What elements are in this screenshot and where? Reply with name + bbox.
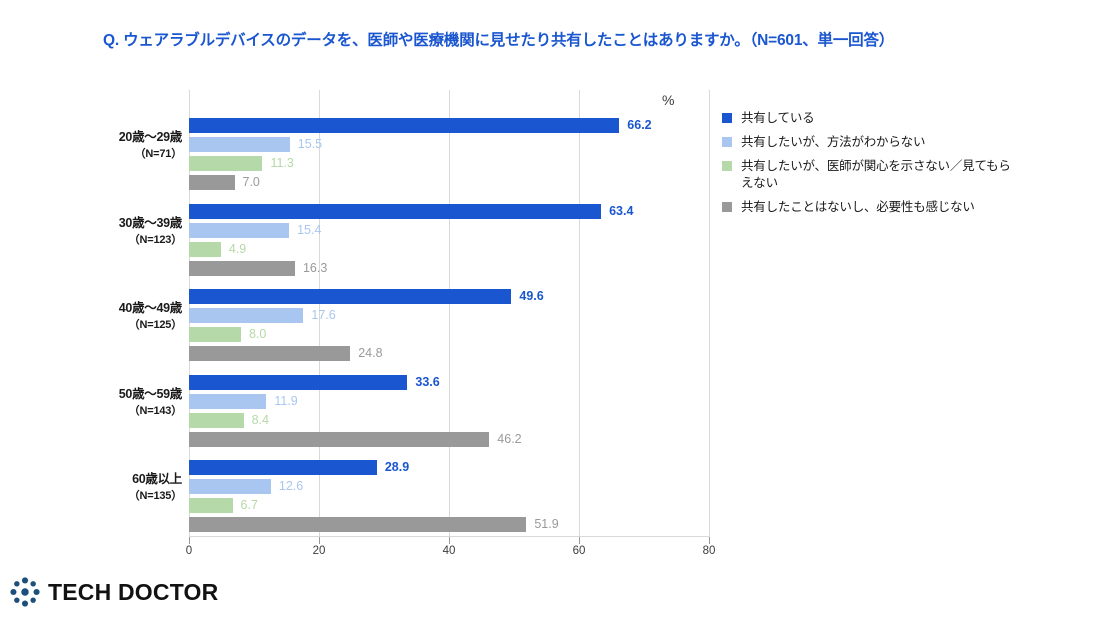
bar-2-3[interactable] — [189, 242, 221, 257]
bar-2-1[interactable] — [189, 204, 601, 219]
bar-value-label: 8.0 — [249, 327, 266, 342]
bar-2-4[interactable] — [189, 261, 295, 276]
category-sample-size: （N=123） — [119, 231, 182, 247]
x-tick-mark — [449, 537, 450, 544]
page-title: Q. ウェアラブルデバイスのデータを、医師や医療機関に見せたり共有したことはあり… — [103, 28, 894, 50]
bar-value-label: 28.9 — [385, 460, 409, 475]
bar-value-label: 46.2 — [497, 432, 521, 447]
chart-plot-area: 66.215.511.37.063.415.44.916.349.617.68.… — [189, 90, 709, 537]
x-gridline — [449, 90, 450, 537]
x-tick-mark — [189, 537, 190, 544]
bar-1-1[interactable] — [189, 118, 619, 133]
legend-swatch-icon — [722, 161, 732, 171]
bar-3-1[interactable] — [189, 289, 511, 304]
x-tick-mark — [709, 537, 710, 544]
legend-label: 共有したいが、方法がわからない — [741, 134, 925, 151]
bar-4-3[interactable] — [189, 413, 244, 428]
bar-1-3[interactable] — [189, 156, 262, 171]
bar-4-4[interactable] — [189, 432, 489, 447]
category-sample-size: （N=135） — [129, 487, 182, 503]
legend-item-3[interactable]: 共有したいが、医師が関心を示さない／見てもらえない — [722, 158, 1012, 192]
bar-value-label: 51.9 — [534, 517, 558, 532]
legend-swatch-icon — [722, 137, 732, 147]
bar-value-label: 15.4 — [297, 223, 321, 238]
category-sample-size: （N=125） — [119, 316, 182, 332]
bar-1-4[interactable] — [189, 175, 235, 190]
category-name: 20歳～29歳 — [119, 126, 182, 145]
bar-5-3[interactable] — [189, 498, 233, 513]
bar-value-label: 66.2 — [627, 118, 651, 133]
bar-4-1[interactable] — [189, 375, 407, 390]
bar-5-1[interactable] — [189, 460, 377, 475]
y-axis-category-5: 60歳以上（N=135） — [129, 468, 182, 503]
bar-2-2[interactable] — [189, 223, 289, 238]
bar-3-3[interactable] — [189, 327, 241, 342]
legend-label: 共有したいが、医師が関心を示さない／見てもらえない — [741, 158, 1012, 192]
y-axis-category-1: 20歳～29歳（N=71） — [119, 126, 182, 161]
legend-item-1[interactable]: 共有している — [722, 110, 1012, 127]
x-tick-label: 40 — [443, 545, 456, 557]
bar-4-2[interactable] — [189, 394, 266, 409]
bar-value-label: 63.4 — [609, 204, 633, 219]
y-axis-category-2: 30歳～39歳（N=123） — [119, 212, 182, 247]
bar-3-4[interactable] — [189, 346, 350, 361]
bar-value-label: 8.4 — [252, 413, 269, 428]
bar-value-label: 24.8 — [358, 346, 382, 361]
flower-dots-logo-icon — [8, 575, 42, 609]
bar-value-label: 16.3 — [303, 261, 327, 276]
x-tick-label: 20 — [313, 545, 326, 557]
x-tick-mark — [579, 537, 580, 544]
bar-value-label: 12.6 — [279, 479, 303, 494]
x-tick-label: 80 — [703, 545, 716, 557]
category-name: 30歳～39歳 — [119, 212, 182, 231]
brand-logo-text: TECH DOCTOR — [48, 579, 218, 606]
category-sample-size: （N=143） — [119, 402, 182, 418]
bar-5-4[interactable] — [189, 517, 526, 532]
legend-item-2[interactable]: 共有したいが、方法がわからない — [722, 134, 1012, 151]
y-axis-category-4: 50歳～59歳（N=143） — [119, 383, 182, 418]
bar-value-label: 11.9 — [274, 394, 297, 409]
y-axis-category-labels: 20歳～29歳（N=71）30歳～39歳（N=123）40歳～49歳（N=125… — [0, 0, 182, 619]
bar-value-label: 6.7 — [241, 498, 258, 513]
bar-value-label: 11.3 — [270, 156, 293, 171]
bar-value-label: 15.5 — [298, 137, 322, 152]
bar-value-label: 17.6 — [311, 308, 335, 323]
bar-value-label: 49.6 — [519, 289, 543, 304]
chart-legend: 共有している共有したいが、方法がわからない共有したいが、医師が関心を示さない／見… — [722, 110, 1012, 223]
y-axis-category-3: 40歳～49歳（N=125） — [119, 297, 182, 332]
x-gridline — [579, 90, 580, 537]
brand-logo: TECH DOCTOR — [8, 575, 218, 609]
x-tick-label: 60 — [573, 545, 586, 557]
category-name: 60歳以上 — [129, 468, 182, 487]
x-tick-label: 0 — [186, 545, 192, 557]
bar-value-label: 33.6 — [415, 375, 439, 390]
x-gridline — [709, 90, 710, 537]
legend-label: 共有したことはないし、必要性も感じない — [741, 199, 975, 216]
x-tick-mark — [319, 537, 320, 544]
bar-3-2[interactable] — [189, 308, 303, 323]
category-name: 40歳～49歳 — [119, 297, 182, 316]
legend-swatch-icon — [722, 113, 732, 123]
bar-value-label: 4.9 — [229, 242, 246, 257]
category-sample-size: （N=71） — [119, 145, 182, 161]
legend-item-4[interactable]: 共有したことはないし、必要性も感じない — [722, 199, 1012, 216]
category-name: 50歳～59歳 — [119, 383, 182, 402]
bar-5-2[interactable] — [189, 479, 271, 494]
legend-swatch-icon — [722, 202, 732, 212]
bar-1-2[interactable] — [189, 137, 290, 152]
bar-value-label: 7.0 — [243, 175, 260, 190]
legend-label: 共有している — [741, 110, 814, 127]
